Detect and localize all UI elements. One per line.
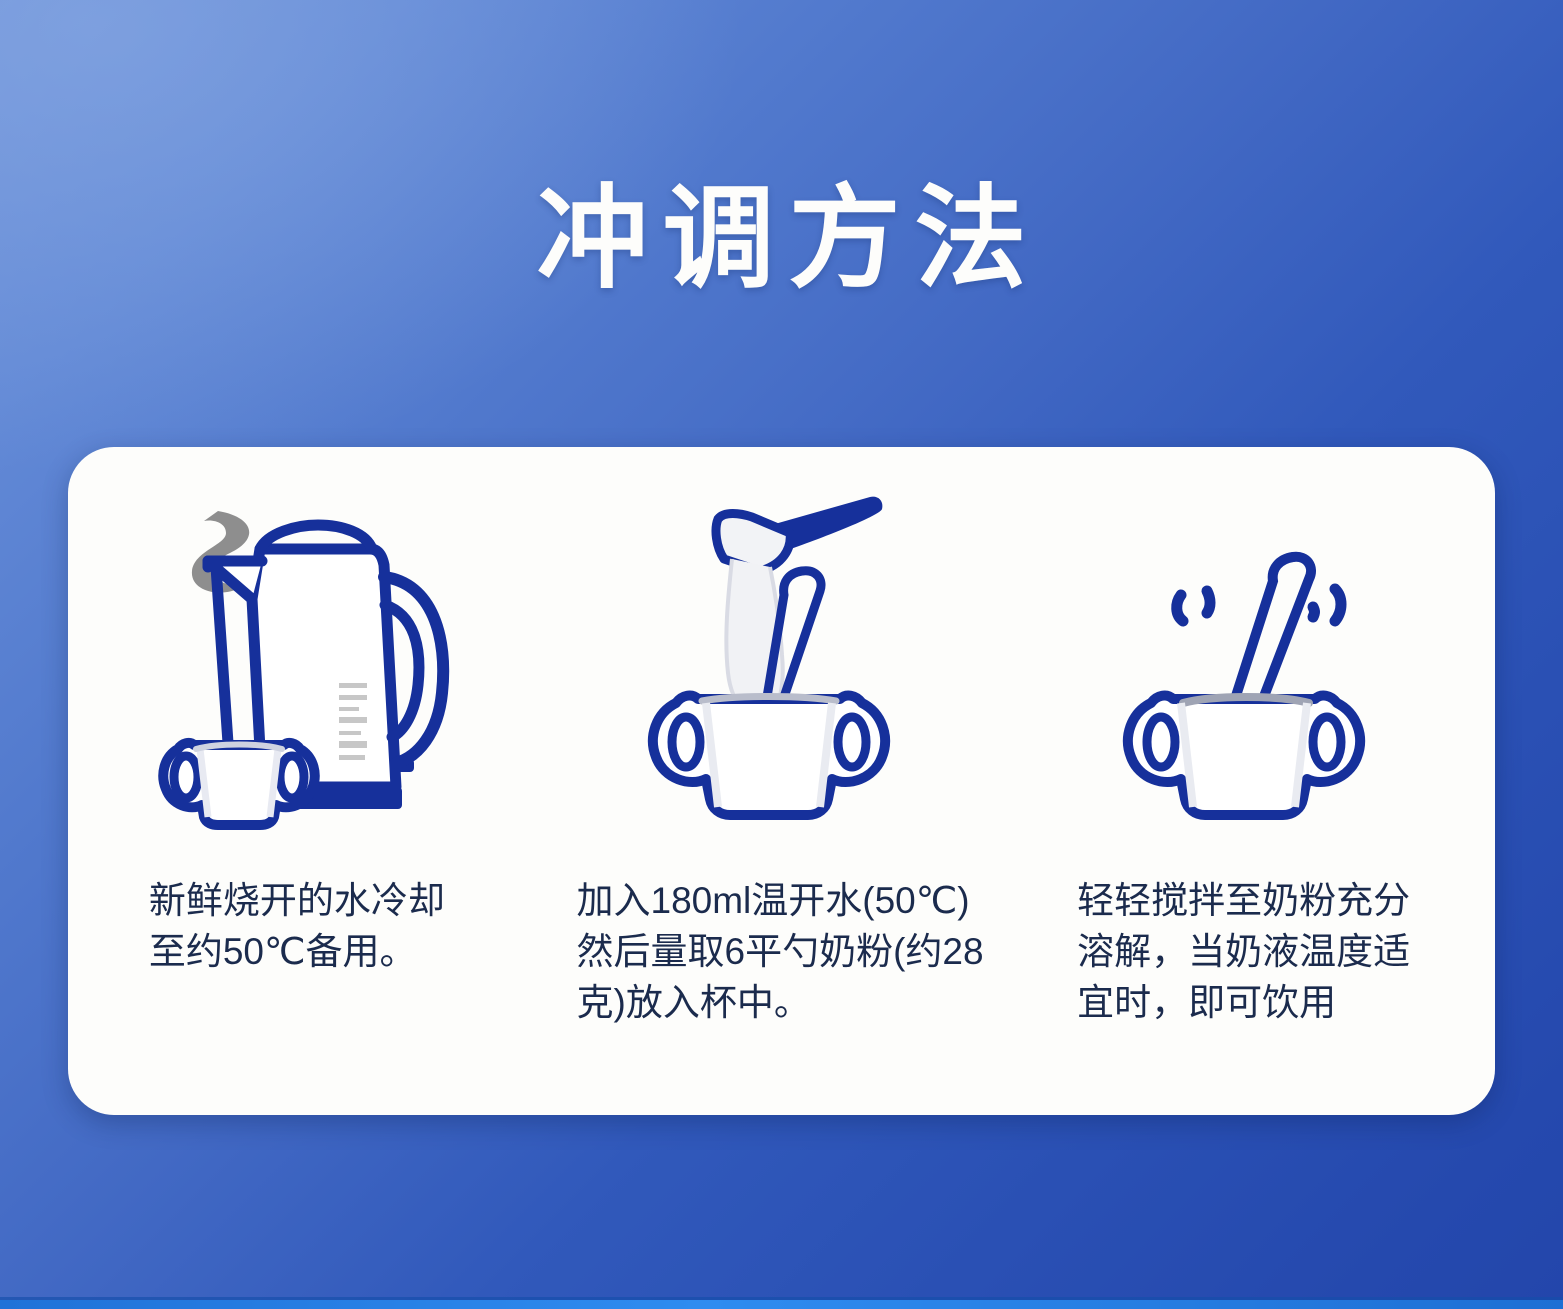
steps-list: 新鲜烧开的水冷却至约50℃备用。	[68, 447, 1495, 1115]
page-title: 冲调方法	[0, 178, 1563, 300]
step-caption-1: 新鲜烧开的水冷却至约50℃备用。	[149, 875, 469, 977]
step-item-2: 加入180ml温开水(50℃)然后量取6平勺奶粉(约28克)放入杯中。	[544, 447, 1020, 1115]
step-caption-2: 加入180ml温开水(50℃)然后量取6平勺奶粉(约28克)放入杯中。	[577, 875, 987, 1028]
bottom-accent-strip	[0, 1300, 1563, 1309]
step-caption-3: 轻轻搅拌至奶粉充分溶解，当奶液温度适宜时，即可饮用	[1077, 875, 1437, 1028]
cup-with-stirring-spoon-icon	[1019, 447, 1495, 837]
scoop-pouring-into-cup-icon	[544, 447, 1020, 837]
steps-card: 新鲜烧开的水冷却至约50℃备用。	[68, 447, 1495, 1115]
step-item-1: 新鲜烧开的水冷却至约50℃备用。	[68, 447, 544, 1115]
cup-with-stirring-spoon-icon-wrap: 轻轻搅拌至奶粉充分溶解，当奶液温度适宜时，即可饮用	[1019, 447, 1495, 1115]
preparation-instructions-poster: 冲调方法	[0, 0, 1563, 1309]
kettle-and-cup-icon	[68, 447, 544, 837]
